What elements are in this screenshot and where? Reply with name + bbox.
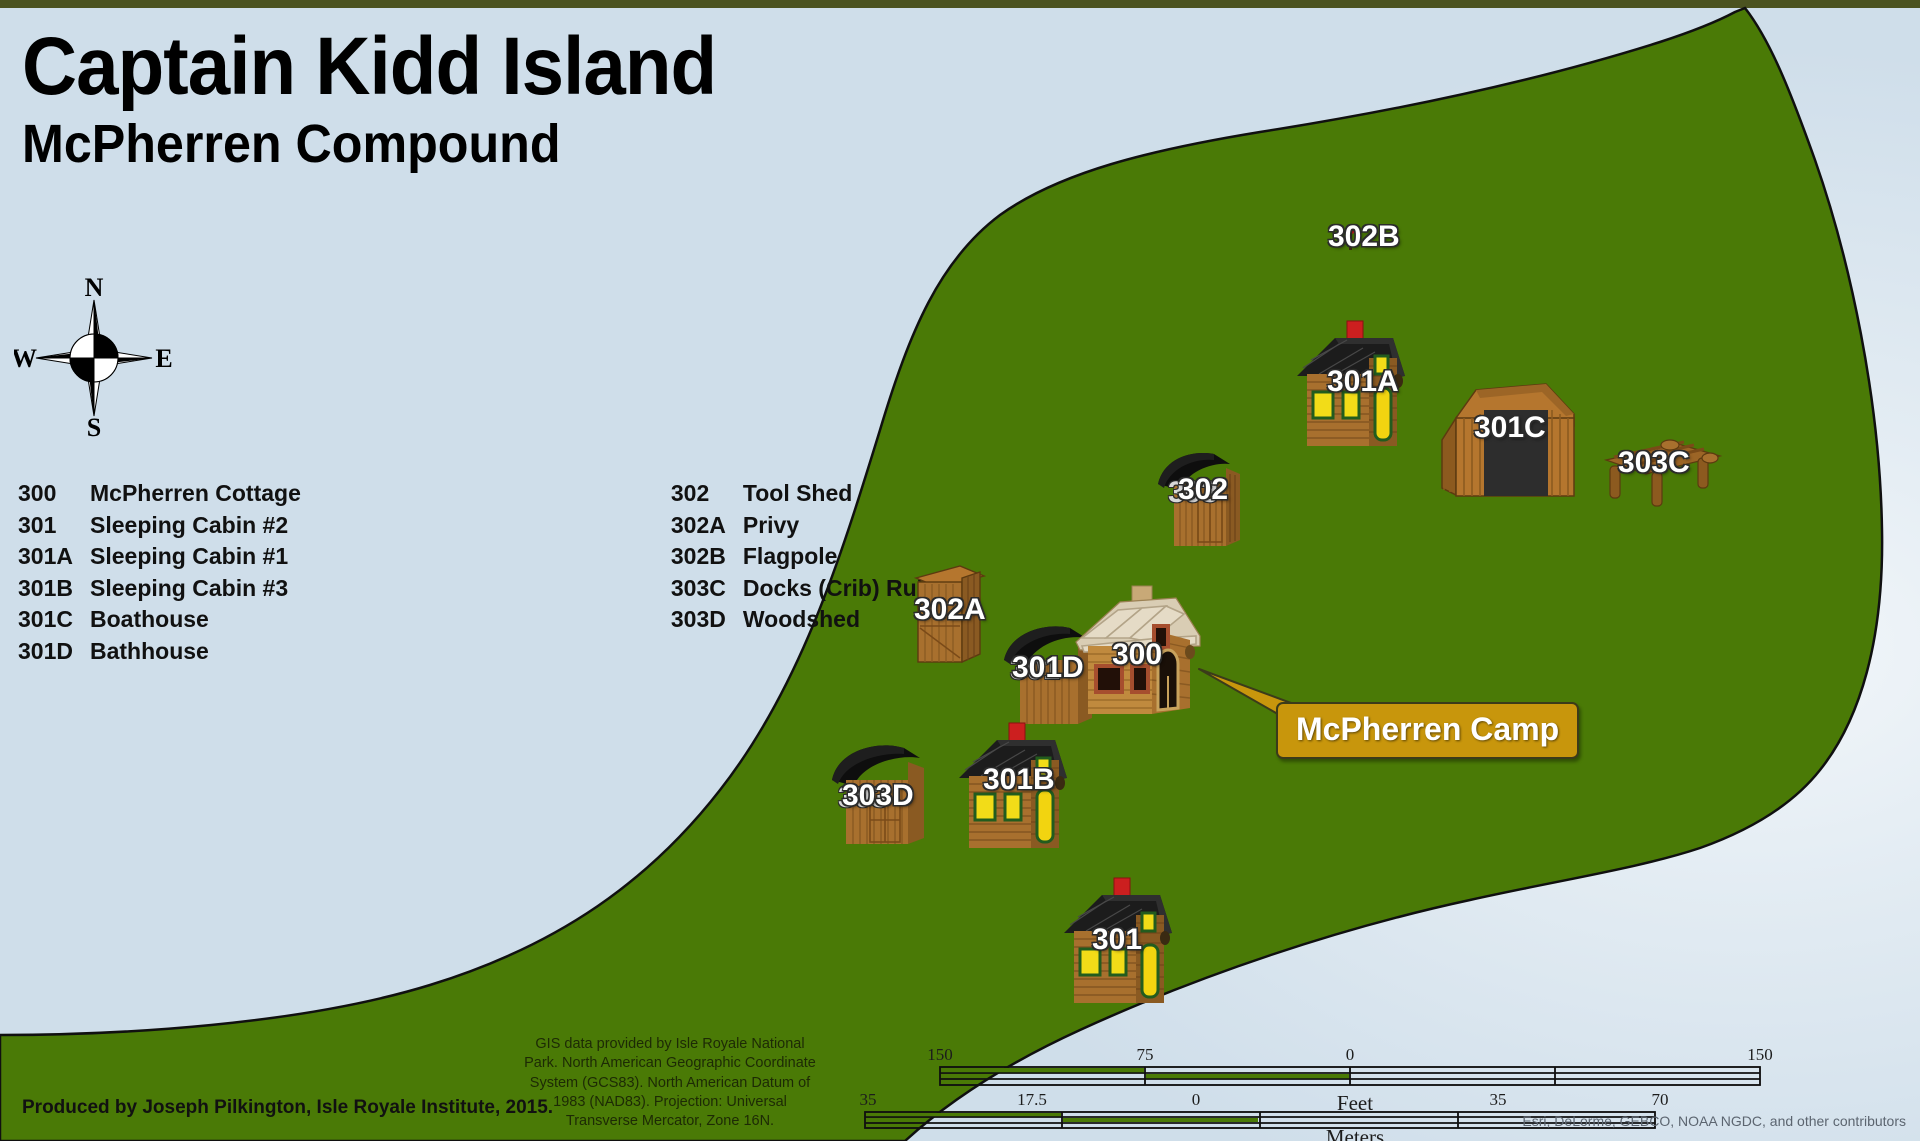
legend-code: 303C	[671, 573, 743, 605]
compass-north-label: N	[85, 278, 104, 302]
legend-code: 301	[18, 510, 90, 542]
map-label-301D-ghost: 301	[1010, 655, 1060, 685]
legend-column-b: 302 Tool Shed 302A Privy 302B Flagpole 3…	[671, 478, 937, 667]
flagpole-icon	[1340, 222, 1362, 252]
building-303C-docks-crib-ruin[interactable]	[1600, 430, 1725, 510]
legend-item-301B: 301B Sleeping Cabin #3	[18, 573, 301, 605]
legend-label: Sleeping Cabin #1	[90, 541, 288, 573]
legend-code: 301C	[18, 604, 90, 636]
scale-meters-tick-0: 35	[860, 1090, 877, 1109]
scale-meters-unit: Meters	[1326, 1125, 1384, 1141]
compass-east-label: E	[155, 344, 172, 373]
legend-label: Bathhouse	[90, 636, 209, 668]
scale-meters-tick-1: 17.5	[1017, 1090, 1047, 1109]
legend-item-302B: 302B Flagpole	[671, 541, 937, 573]
legend-code: 301D	[18, 636, 90, 668]
crib-dock-icon	[1600, 430, 1725, 510]
legend-code: 302A	[671, 510, 743, 542]
legend-code: 301A	[18, 541, 90, 573]
scale-meters-tick-2: 0	[1192, 1090, 1201, 1109]
legend-label: Docks (Crib) Ruin	[743, 573, 937, 605]
callout-label: McPherren Camp	[1296, 711, 1559, 747]
callout-mcpherren-camp[interactable]: McPherren Camp	[1276, 702, 1579, 759]
legend-item-301D: 301D Bathhouse	[18, 636, 301, 668]
legend-label: Privy	[743, 510, 799, 542]
map-label-302-ghost: 303	[1168, 478, 1218, 508]
legend-code: 301B	[18, 573, 90, 605]
legend-item-302A: 302A Privy	[671, 510, 937, 542]
legend-label: Sleeping Cabin #3	[90, 573, 288, 605]
scale-meters-tick-4: 70	[1652, 1090, 1669, 1109]
legend-item-302: 302 Tool Shed	[671, 478, 937, 510]
building-300-mcpherren-cottage[interactable]	[1072, 580, 1212, 720]
compass-south-label: S	[87, 413, 101, 438]
page-subtitle: McPherren Compound	[22, 116, 716, 173]
page-title: Captain Kidd Island	[22, 28, 716, 106]
privy-icon	[912, 558, 988, 668]
legend-label: Tool Shed	[743, 478, 852, 510]
cottage-icon	[1072, 580, 1212, 720]
legend-label: Flagpole	[743, 541, 838, 573]
legend-code: 302	[671, 478, 743, 510]
title-block: Captain Kidd Island McPherren Compound	[22, 28, 768, 173]
legend-code: 303D	[671, 604, 743, 636]
compass-west-label: W	[14, 344, 37, 373]
legend-label: Boathouse	[90, 604, 209, 636]
legend-label: Sleeping Cabin #2	[90, 510, 288, 542]
legend-item-301: 301 Sleeping Cabin #2	[18, 510, 301, 542]
marker-302B-flagpole[interactable]	[1340, 222, 1362, 252]
legend-item-300: 300 McPherren Cottage	[18, 478, 301, 510]
legend-label: McPherren Cottage	[90, 478, 301, 510]
map-canvas: Captain Kidd Island McPherren Compound	[0, 0, 1920, 1141]
log-cabin-icon	[1293, 318, 1408, 458]
compass-rose: N S E W	[14, 278, 174, 438]
building-301A-sleeping-cabin-1[interactable]	[1293, 318, 1408, 458]
attribution-text: Esri, DeLorme, GEBCO, NOAA NGDC, and oth…	[1522, 1113, 1906, 1129]
legend-item-303C: 303C Docks (Crib) Ruin	[671, 573, 937, 605]
building-301-sleeping-cabin-2[interactable]	[1060, 875, 1175, 1015]
legend-code: 300	[18, 478, 90, 510]
legend-label: Woodshed	[743, 604, 860, 636]
map-label-303D-ghost: 303	[838, 783, 888, 813]
legend-item-303D: 303D Woodshed	[671, 604, 937, 636]
log-cabin-icon	[1060, 875, 1175, 1015]
legend-column-a: 300 McPherren Cottage 301 Sleeping Cabin…	[18, 478, 301, 667]
scale-meters-tick-3: 35	[1490, 1090, 1507, 1109]
legend-item-301A: 301A Sleeping Cabin #1	[18, 541, 301, 573]
building-301C-boathouse[interactable]	[1436, 370, 1586, 500]
log-cabin-icon	[955, 720, 1070, 860]
boathouse-icon	[1436, 370, 1586, 500]
producer-credit: Produced by Joseph Pilkington, Isle Roya…	[22, 1097, 553, 1119]
legend-item-301C: 301C Boathouse	[18, 604, 301, 636]
building-302A-privy[interactable]	[912, 558, 988, 668]
legend: 300 McPherren Cottage 301 Sleeping Cabin…	[18, 478, 937, 667]
legend-code: 302B	[671, 541, 743, 573]
gis-data-note: GIS data provided by Isle Royale Nationa…	[520, 1035, 820, 1131]
building-301B-sleeping-cabin-3[interactable]	[955, 720, 1070, 860]
